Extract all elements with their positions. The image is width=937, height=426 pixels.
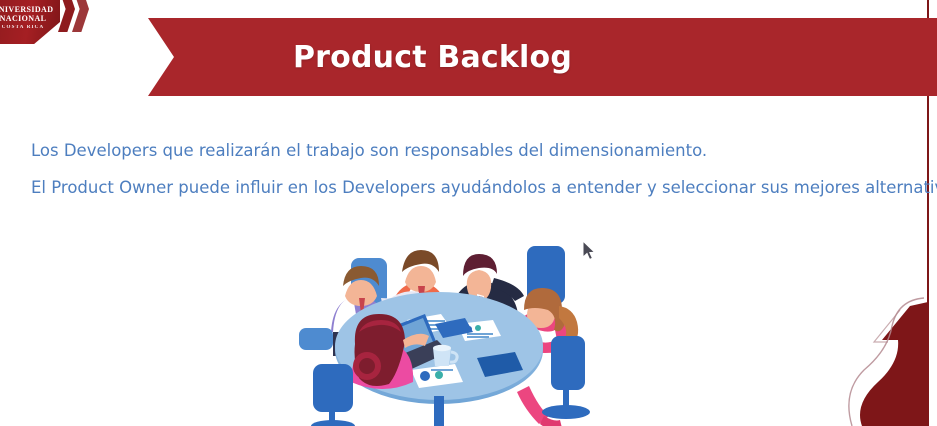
- una-logo: UNA UNIVERSIDAD NACIONAL COSTA RICA: [0, 0, 110, 46]
- una-logo-line-costa-rica: COSTA RICA: [0, 23, 54, 32]
- chair-front-left: [311, 364, 355, 426]
- page-title: Product Backlog: [293, 40, 792, 75]
- chair-mid-left: [299, 328, 333, 350]
- body-paragraph-1: Los Developers que realizarán el trabajo…: [31, 132, 901, 169]
- una-logo-acronym: UNA: [0, 0, 58, 4]
- chevron-arrow-icon-1: [58, 0, 75, 32]
- una-logo-line-nacional: NACIONAL: [0, 14, 54, 23]
- title-ribbon: Product Backlog: [148, 18, 937, 96]
- team-meeting-illustration: [289, 236, 591, 426]
- chevron-arrow-icon-2: [72, 0, 89, 32]
- slide-canvas: UNA UNIVERSIDAD NACIONAL COSTA RICA Prod…: [0, 0, 937, 426]
- corner-swoosh-decoration: [848, 296, 928, 426]
- body-paragraph-2: El Product Owner puede influir en los De…: [31, 169, 901, 206]
- body-text-block: Los Developers que realizarán el trabajo…: [31, 132, 901, 206]
- mouse-pointer: [583, 241, 597, 261]
- una-logo-line-universidad: UNIVERSIDAD: [0, 5, 54, 14]
- una-logo-badge: UNA UNIVERSIDAD NACIONAL COSTA RICA: [0, 0, 60, 44]
